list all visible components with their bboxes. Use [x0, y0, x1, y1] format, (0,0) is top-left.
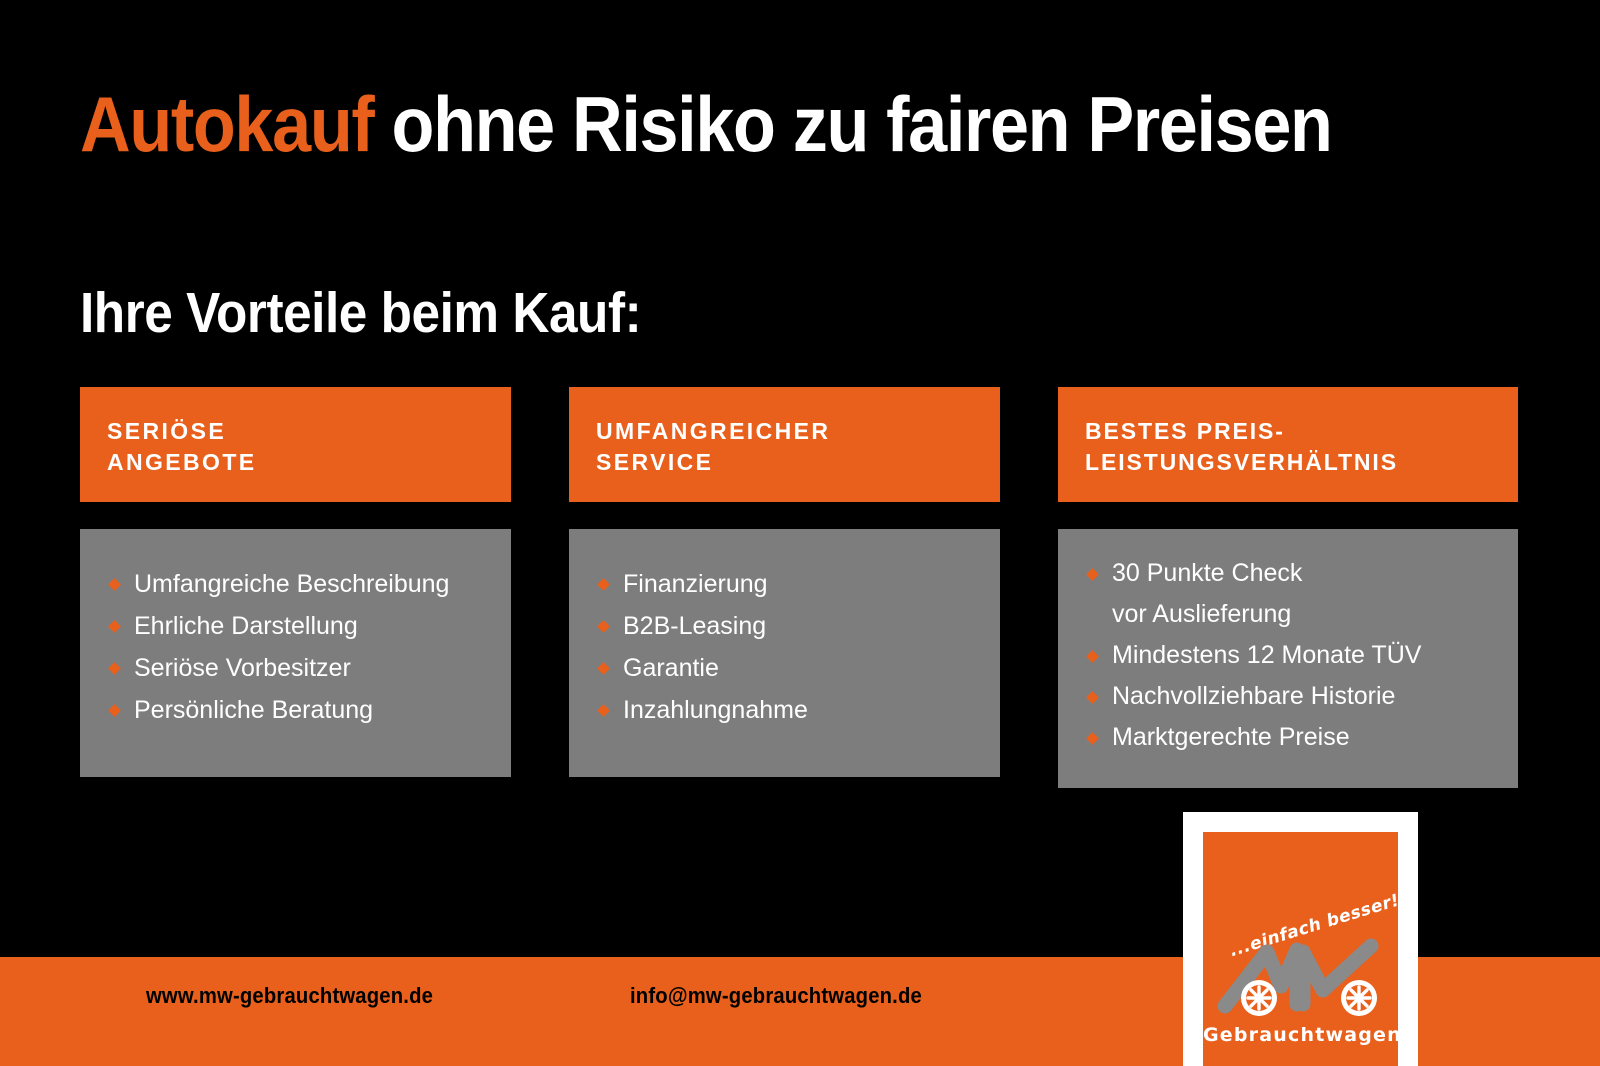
list-item-text: Finanzierung: [623, 563, 974, 605]
list-item: Nachvollziehbare Historie: [1084, 676, 1492, 717]
column-header-line: SERIÖSE: [107, 416, 484, 447]
list-item: Seriöse Vorbesitzer: [106, 647, 485, 689]
column-header-line: SERVICE: [596, 447, 973, 478]
list-item-text: 30 Punkte Check: [1112, 553, 1492, 594]
list-item-text: Inzahlungnahme: [623, 689, 974, 731]
page-title-accent: Autokauf: [80, 80, 373, 168]
logo-company-name: Gebrauchtwagen: [1203, 1024, 1398, 1046]
page-title: Autokauf ohne Risiko zu fairen Preisen: [80, 79, 1367, 169]
list-item-text: Umfangreiche Beschreibung: [134, 563, 485, 605]
diamond-bullet-icon: [108, 578, 121, 591]
list-item-text: Seriöse Vorbesitzer: [134, 647, 485, 689]
footer-website-link[interactable]: www.mw-gebrauchtwagen.de: [146, 985, 433, 1007]
section-subtitle: Ihre Vorteile beim Kauf:: [80, 281, 641, 345]
poster-canvas: Autokauf ohne Risiko zu fairen Preisen I…: [0, 0, 1600, 1066]
list-item: 30 Punkte Check vor Auslieferung: [1084, 553, 1492, 635]
column-header-2: BESTES PREIS- LEISTUNGSVERHÄLTNIS: [1058, 387, 1518, 502]
list-item-text: Ehrliche Darstellung: [134, 605, 485, 647]
list-item: B2B-Leasing: [595, 605, 974, 647]
column-body-1: Finanzierung B2B-Leasing Garantie Inzahl…: [569, 529, 1000, 777]
company-logo[interactable]: ...einfach besser!: [1183, 812, 1418, 1066]
diamond-bullet-icon: [597, 620, 610, 633]
list-item: Mindestens 12 Monate TÜV: [1084, 635, 1492, 676]
list-item-text: Mindestens 12 Monate TÜV: [1112, 635, 1492, 676]
list-item-text-continued: vor Auslieferung: [1112, 594, 1492, 635]
list-item: Ehrliche Darstellung: [106, 605, 485, 647]
logo-panel: ...einfach besser!: [1203, 832, 1398, 1066]
list-item-text: Marktgerechte Preise: [1112, 717, 1492, 758]
list-item-text: Nachvollziehbare Historie: [1112, 676, 1492, 717]
column-body-0: Umfangreiche Beschreibung Ehrliche Darst…: [80, 529, 511, 777]
diamond-bullet-icon: [597, 578, 610, 591]
diamond-bullet-icon: [597, 704, 610, 717]
column-header-1: UMFANGREICHER SERVICE: [569, 387, 1000, 502]
benefit-list-2: 30 Punkte Check vor Auslieferung Mindest…: [1084, 553, 1492, 758]
diamond-bullet-icon: [1086, 568, 1099, 581]
mw-monogram-icon: [1211, 932, 1391, 1020]
column-header-line: ANGEBOTE: [107, 447, 484, 478]
list-item: Garantie: [595, 647, 974, 689]
column-header-line: BESTES PREIS-: [1085, 416, 1491, 447]
diamond-bullet-icon: [108, 704, 121, 717]
diamond-bullet-icon: [597, 662, 610, 675]
page-title-rest: ohne Risiko zu fairen Preisen: [373, 80, 1331, 168]
diamond-bullet-icon: [108, 662, 121, 675]
diamond-bullet-icon: [1086, 650, 1099, 663]
benefit-column-serioese-angebote: SERIÖSE ANGEBOTE Umfangreiche Beschreibu…: [80, 387, 511, 777]
footer-email-link[interactable]: info@mw-gebrauchtwagen.de: [630, 985, 922, 1007]
benefit-column-umfangreicher-service: UMFANGREICHER SERVICE Finanzierung B2B-L…: [569, 387, 1000, 777]
list-item: Umfangreiche Beschreibung: [106, 563, 485, 605]
column-header-line: LEISTUNGSVERHÄLTNIS: [1085, 447, 1491, 478]
column-header-0: SERIÖSE ANGEBOTE: [80, 387, 511, 502]
list-item-text: Persönliche Beratung: [134, 689, 485, 731]
list-item: Persönliche Beratung: [106, 689, 485, 731]
list-item: Inzahlungnahme: [595, 689, 974, 731]
list-item: Finanzierung: [595, 563, 974, 605]
benefit-list-0: Umfangreiche Beschreibung Ehrliche Darst…: [106, 563, 485, 731]
diamond-bullet-icon: [1086, 732, 1099, 745]
diamond-bullet-icon: [1086, 691, 1099, 704]
column-header-line: UMFANGREICHER: [596, 416, 973, 447]
list-item: Marktgerechte Preise: [1084, 717, 1492, 758]
column-body-2: 30 Punkte Check vor Auslieferung Mindest…: [1058, 529, 1518, 788]
list-item-text: B2B-Leasing: [623, 605, 974, 647]
benefit-list-1: Finanzierung B2B-Leasing Garantie Inzahl…: [595, 563, 974, 731]
diamond-bullet-icon: [108, 620, 121, 633]
list-item-text: Garantie: [623, 647, 974, 689]
benefit-column-bestes-preis-leistungsverhaeltnis: BESTES PREIS- LEISTUNGSVERHÄLTNIS 30 Pun…: [1058, 387, 1518, 788]
